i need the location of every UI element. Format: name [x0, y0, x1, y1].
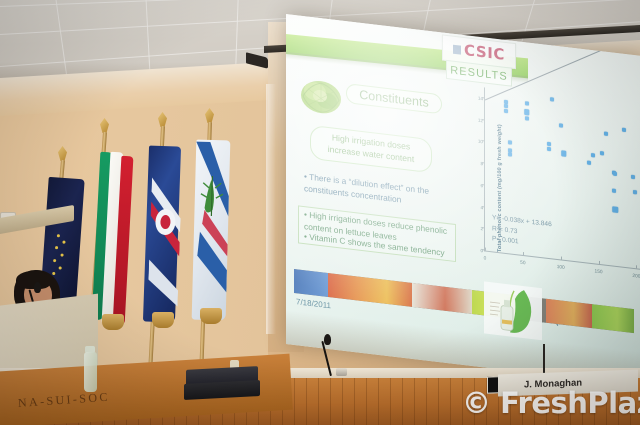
chart-data-point	[559, 124, 563, 128]
chart-x-tick: 0	[484, 256, 487, 261]
table-microphone-head	[324, 334, 331, 345]
slide-title: Constituents	[346, 83, 442, 114]
strip-photo-2	[328, 273, 412, 307]
chart-x-tick-mark	[523, 252, 524, 255]
chart-data-point	[631, 174, 635, 178]
regional-flag-blue-white-emblem	[192, 140, 231, 321]
chart-data-point	[547, 147, 551, 151]
table-microphone-base	[336, 368, 347, 376]
chart-y-tick-mark	[482, 206, 485, 207]
chart-data-point	[525, 116, 529, 120]
chart-data-point	[504, 108, 508, 112]
chart-data-point	[633, 190, 637, 194]
regional-flag-red-white-emblem	[147, 160, 182, 311]
chart-x-tick: 150	[595, 269, 603, 275]
chart-data-point	[613, 171, 617, 175]
projection-screen: CSIC RESULTS Constituents High irrigatio…	[286, 14, 640, 386]
chart-x-tick: 200	[632, 274, 640, 280]
wall-corner-edge	[266, 84, 276, 334]
chart-data-point	[612, 188, 616, 192]
csic-square-mark	[453, 44, 461, 54]
chart-y-tick-mark	[482, 162, 485, 163]
chart-data-point	[561, 150, 567, 156]
chart-y-tick-mark	[482, 184, 485, 185]
lettuce-head-photo	[300, 76, 342, 117]
slide-callout: High irrigation doses increase water con…	[310, 125, 432, 173]
chart-data-point	[612, 206, 618, 212]
chart-y-tick-mark	[482, 97, 485, 98]
chart-data-point	[508, 140, 512, 144]
chart-data-point	[587, 161, 591, 165]
watermark: © FreshPlaza	[462, 386, 640, 420]
chart-data-point	[508, 152, 512, 156]
chart-x-tick-mark	[561, 256, 562, 259]
chart-x-tick: 50	[520, 261, 525, 267]
speaker-hair-front	[16, 271, 50, 289]
chart-data-point	[550, 97, 554, 101]
csic-logo-text: CSIC	[464, 41, 505, 64]
scatter-chart: Total phenolic content (mg/100 g fresh w…	[444, 77, 640, 310]
chart-data-point	[524, 109, 530, 115]
chart-y-tick-mark	[482, 140, 485, 141]
slide-date: 7/18/2011	[296, 297, 331, 310]
slide-bullet-1: • There is a “dilution effect” on the co…	[304, 170, 454, 212]
chart-data-point	[591, 153, 595, 157]
chart-x-tick-mark	[485, 247, 486, 250]
chart-x-tick-mark	[599, 261, 600, 264]
green-leaf-bottle-logo	[484, 281, 542, 340]
strip-photo-1	[294, 269, 328, 297]
chart-x-tick-mark	[636, 265, 637, 268]
conference-photo: CSIC RESULTS Constituents High irrigatio…	[0, 0, 640, 425]
chart-x-tick: 100	[557, 265, 565, 271]
chart-data-point	[525, 101, 529, 105]
chart-data-point	[600, 151, 604, 155]
chart-y-tick-mark	[482, 227, 485, 228]
chart-y-tick-mark	[482, 119, 485, 120]
strip-photo-6	[592, 304, 634, 333]
chart-data-point	[604, 131, 608, 135]
podium-microphone-head	[34, 282, 41, 293]
chart-data-point	[622, 128, 626, 132]
chart-data-point	[547, 142, 551, 146]
water-bottle	[84, 352, 97, 392]
